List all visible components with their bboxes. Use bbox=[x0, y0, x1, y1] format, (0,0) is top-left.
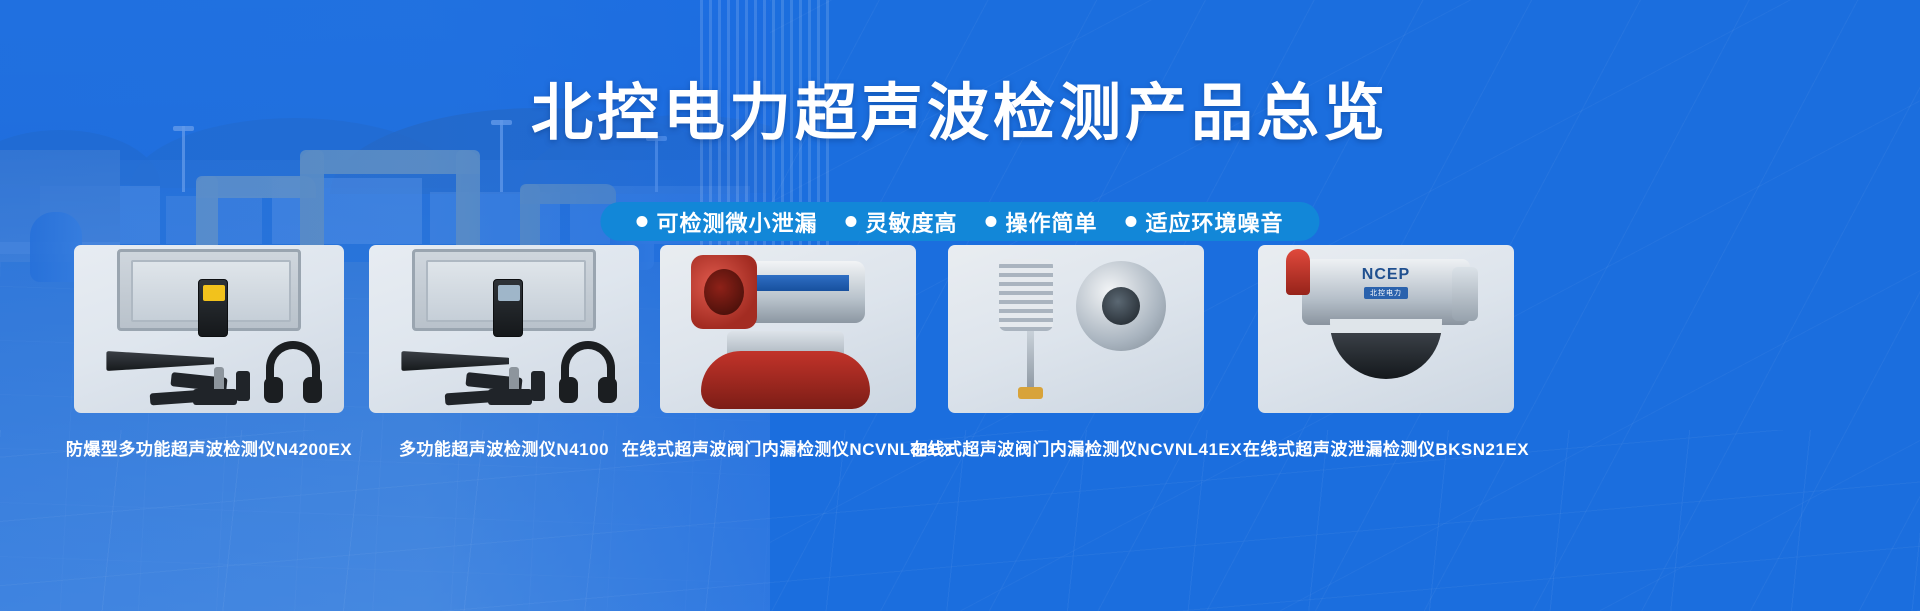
product-image bbox=[369, 245, 639, 413]
ncep-logo-text: NCEP bbox=[1362, 266, 1410, 284]
handheld-meter-shape bbox=[493, 279, 523, 337]
product-card[interactable]: 多功能超声波检测仪N4100 bbox=[369, 245, 639, 460]
product-image: NCEP 北控电力 bbox=[1258, 245, 1514, 413]
product-image bbox=[948, 245, 1204, 413]
product-list: 防爆型多功能超声波检测仪N4200EX 多功能超声波检测仪N4100 bbox=[0, 245, 1920, 565]
product-caption: 防爆型多功能超声波检测仪N4200EX bbox=[66, 435, 352, 460]
banner-title: 北控电力超声波检测产品总览 bbox=[0, 62, 1920, 152]
product-card[interactable]: NCEP 北控电力 在线式超声波泄漏检测仪BKSN21EX bbox=[1258, 245, 1514, 460]
product-caption: 在线式超声波阀门内漏检测仪NCVNL31EX bbox=[622, 435, 954, 460]
feature-badge-label: 可检测微小泄漏 bbox=[656, 206, 817, 238]
product-overview-banner: 北控电力超声波检测产品总览 可检测微小泄漏 灵敏度高 操作简单 适应环境噪音 bbox=[0, 0, 1920, 611]
feature-badge-label: 操作简单 bbox=[1006, 206, 1098, 238]
product-caption: 在线式超声波阀门内漏检测仪NCVNL41EX bbox=[910, 435, 1242, 460]
feature-badge: 灵敏度高 bbox=[831, 206, 971, 238]
feature-badge: 操作简单 bbox=[972, 206, 1112, 238]
handheld-meter-shape bbox=[198, 279, 228, 337]
horn-probe-shape bbox=[106, 351, 214, 371]
steel-dome-shape bbox=[1076, 261, 1166, 351]
product-card[interactable]: 在线式超声波阀门内漏检测仪NCVNL31EX bbox=[660, 245, 916, 460]
bullet-dot-icon bbox=[636, 216, 647, 227]
probe-shape bbox=[236, 371, 250, 401]
probe-shape bbox=[531, 371, 545, 401]
headphone-shape bbox=[561, 341, 615, 387]
feature-badge-bar: 可检测微小泄漏 灵敏度高 操作简单 适应环境噪音 bbox=[600, 202, 1319, 241]
banner-content: 北控电力超声波检测产品总览 可检测微小泄漏 灵敏度高 操作简单 适应环境噪音 bbox=[0, 0, 1920, 611]
feature-badge-label: 适应环境噪音 bbox=[1146, 206, 1284, 238]
ribbed-cylinder-shape bbox=[999, 259, 1053, 331]
feature-badge: 可检测微小泄漏 bbox=[622, 206, 831, 238]
bullet-dot-icon bbox=[986, 216, 997, 227]
product-card[interactable]: 在线式超声波阀门内漏检测仪NCVNL41EX bbox=[948, 245, 1204, 460]
bullet-dot-icon bbox=[1126, 216, 1137, 227]
product-caption: 在线式超声波泄漏检测仪BKSN21EX bbox=[1243, 435, 1529, 460]
probe-stem-shape bbox=[1027, 331, 1034, 389]
side-arm-shape bbox=[1452, 267, 1478, 321]
bullet-dot-icon bbox=[845, 216, 856, 227]
product-card[interactable]: 防爆型多功能超声波检测仪N4200EX bbox=[74, 245, 344, 460]
headphone-shape bbox=[266, 341, 320, 387]
horn-probe-shape bbox=[401, 351, 509, 371]
black-dome-shape bbox=[1330, 319, 1442, 379]
probe-shape bbox=[488, 389, 532, 405]
probe-shape bbox=[193, 389, 237, 405]
housing-shape: NCEP 北控电力 bbox=[1302, 259, 1471, 325]
product-image bbox=[74, 245, 344, 413]
feature-badge: 适应环境噪音 bbox=[1112, 206, 1298, 238]
product-image bbox=[660, 245, 916, 413]
red-base-shape bbox=[701, 351, 870, 409]
red-lens-shape bbox=[691, 255, 757, 329]
feature-badge-label: 灵敏度高 bbox=[865, 206, 957, 238]
ncep-logo-subtext: 北控电力 bbox=[1364, 287, 1408, 299]
product-caption: 多功能超声波检测仪N4100 bbox=[399, 435, 609, 460]
alarm-beacon-shape bbox=[1286, 249, 1310, 295]
